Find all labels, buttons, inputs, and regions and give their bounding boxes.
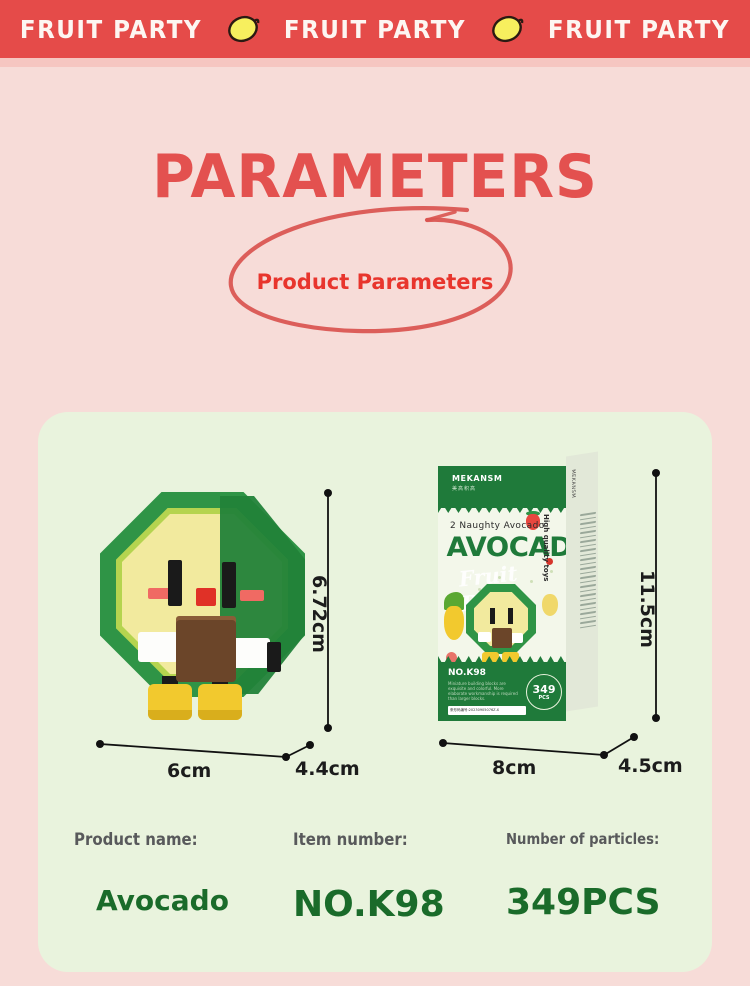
banner-underline — [0, 58, 750, 67]
info-value-item-number: NO.K98 — [293, 884, 483, 925]
info-label-item-number: Item number: — [293, 830, 460, 850]
banner-text-3: FRUIT PARTY — [548, 15, 730, 44]
title-section: PARAMETERS Product Parameters — [0, 142, 750, 332]
figure-eye-left — [168, 560, 182, 606]
figure-nose — [196, 588, 216, 606]
figure-depth-label: 4.4cm — [295, 758, 360, 780]
top-banner: FRUIT PARTY FRUIT PARTY FRUIT PARTY — [0, 0, 750, 58]
box-barcode: 条形码编号:20230905076Z.X — [448, 706, 526, 715]
package-depth-label: 4.5cm — [618, 755, 683, 777]
figure-foot-left-shade — [148, 710, 192, 720]
package-height-label: 11.5cm — [636, 570, 658, 648]
package-width-label: 8cm — [492, 757, 536, 779]
info-column-particles: Number of particles: 349PCS — [506, 830, 716, 923]
box-top-zigzag — [438, 504, 566, 513]
info-value-particles: 349PCS — [506, 882, 716, 923]
avocado-block-figure — [100, 492, 315, 722]
box-tagline: 2 Naughty Avocado — [450, 521, 545, 531]
figure-height-label: 6.72cm — [308, 575, 330, 653]
figure-width-label: 6cm — [167, 760, 211, 782]
mini-figure-eye-right — [508, 608, 513, 624]
figure-eye-right — [222, 562, 236, 608]
mini-figure-hand-left — [478, 632, 491, 642]
banner-text-2: FRUIT PARTY — [284, 15, 466, 44]
box-pcs-badge: 349 PCS — [526, 674, 562, 710]
mini-figure-eye-left — [490, 608, 495, 624]
page-title: PARAMETERS — [11, 142, 739, 212]
box-brand-chinese: 美高积高 — [452, 485, 476, 492]
box-side-brand: MEKANSM — [570, 469, 576, 499]
figure-stub — [267, 642, 281, 672]
pineapple-icon — [444, 606, 464, 640]
box-side-text-lines — [580, 512, 596, 632]
info-label-product-name: Product name: — [74, 830, 250, 850]
mini-figure-pit — [492, 628, 512, 648]
info-value-product-name: Avocado — [96, 884, 274, 917]
box-description: Miniature building blocks are exquisite … — [448, 681, 520, 701]
avocado-figure-image — [60, 470, 390, 770]
info-column-item-number: Item number: NO.K98 — [293, 830, 483, 925]
figure-pit — [176, 620, 236, 682]
product-box-image: MEKANSM MEKANSM 美高积高 2 Naughty — [420, 450, 650, 770]
product-info-row: Product name: Avocado Item number: NO.K9… — [38, 830, 712, 940]
box-pcs-unit: PCS — [538, 695, 549, 701]
lemon-icon — [224, 14, 262, 44]
lemon-icon-2 — [488, 14, 526, 44]
info-column-product-name: Product name: Avocado — [74, 830, 274, 917]
box-pcs-number: 349 — [533, 684, 556, 695]
box-quality-text: High quality toys — [542, 514, 550, 581]
box-front-panel: MEKANSM 美高积高 2 Naughty Avocado AVOCADO F… — [438, 466, 566, 721]
figure-hand-right — [230, 638, 270, 668]
page-subtitle: Product Parameters — [0, 270, 750, 294]
info-label-particles: Number of particles: — [506, 830, 691, 848]
figure-hand-left — [138, 632, 178, 662]
product-box: MEKANSM MEKANSM 美高积高 2 Naughty — [438, 466, 598, 721]
box-barcode-text: 条形码编号:20230905076Z.X — [448, 706, 526, 713]
box-side-panel: MEKANSM — [566, 451, 598, 711]
figure-cheek-right — [240, 590, 264, 601]
banner-text-1: FRUIT PARTY — [20, 15, 202, 44]
figure-foot-right-shade — [198, 710, 242, 720]
hand-drawn-circle — [205, 204, 545, 334]
box-item-number: NO.K98 — [448, 668, 486, 678]
box-brand-logo: MEKANSM — [452, 474, 502, 483]
